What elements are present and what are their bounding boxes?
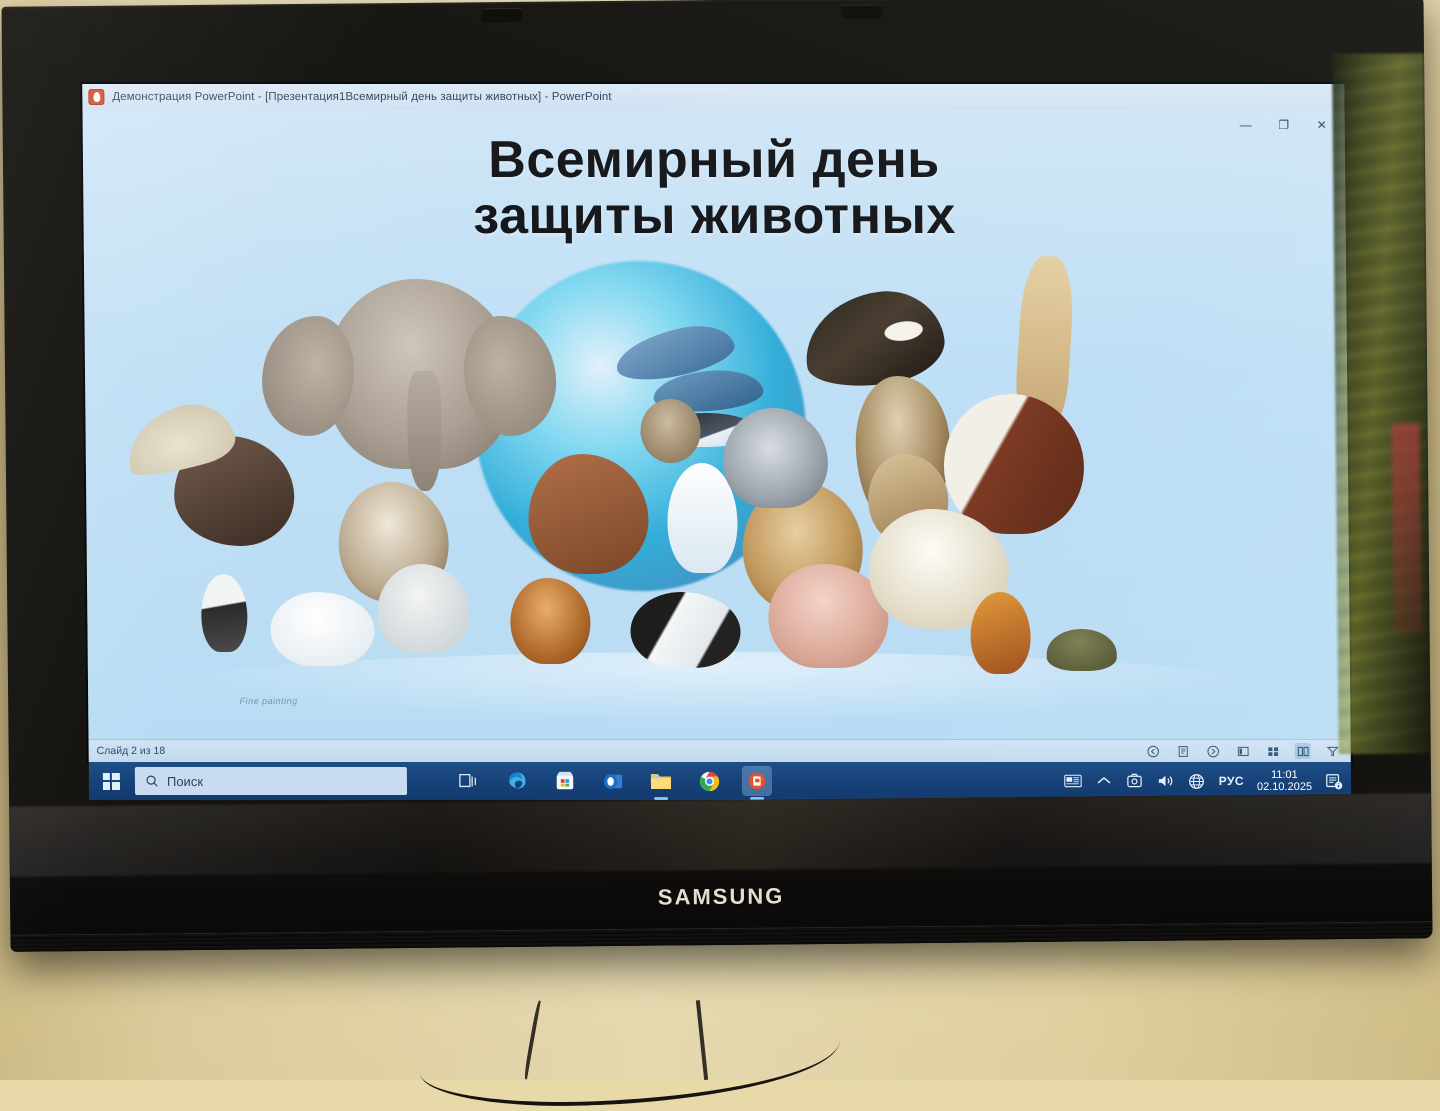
search-icon (145, 774, 159, 788)
mount-clip-left (482, 8, 522, 22)
animal-bear (641, 399, 702, 463)
power-led (709, 818, 715, 822)
animal-illustration: Fine painting (84, 270, 1350, 730)
powerpoint-icon (88, 89, 104, 105)
slide-title-line2: защиты животных (203, 188, 1226, 244)
slide-canvas[interactable]: Всемирный день защиты животных (82, 110, 1350, 740)
display-lower-bezel: SAMSUNG (9, 793, 1432, 952)
animal-elephant-trunk (407, 371, 442, 491)
powerpoint-statusbar: Слайд 2 из 18 (89, 739, 1351, 762)
clock-date: 02.10.2025 (1257, 781, 1312, 793)
outlook-icon[interactable] (599, 767, 627, 795)
power-cable (418, 1003, 841, 1111)
animal-turtle (1047, 629, 1117, 671)
window-reflection-red (1392, 423, 1422, 633)
microsoft-edge-icon[interactable] (503, 767, 531, 795)
system-tray: РУС 11:01 02.10.2025 (1064, 769, 1351, 794)
previous-slide-button[interactable] (1145, 743, 1161, 759)
slide-counter: Слайд 2 из 18 (89, 745, 166, 757)
windows-logo-icon (102, 772, 119, 789)
animal-eagle (798, 284, 950, 395)
network-icon[interactable] (1188, 772, 1206, 790)
windows-taskbar: Поиск (89, 762, 1351, 800)
volume-icon[interactable] (1157, 772, 1175, 790)
news-widget-icon[interactable] (1064, 772, 1082, 790)
minimize-button[interactable]: — (1227, 114, 1265, 136)
bezel-reflection (9, 793, 1432, 877)
television-display: Демонстрация PowerPoint - [Презентация1В… (1, 0, 1432, 952)
screen-content: Демонстрация PowerPoint - [Презентация1В… (82, 84, 1351, 762)
slide-sorter-view-button[interactable] (1265, 743, 1281, 759)
start-button[interactable] (89, 762, 133, 800)
slideshow-view-button[interactable] (1325, 743, 1341, 759)
notification-icon[interactable] (1325, 772, 1343, 790)
animal-lamb (270, 592, 375, 666)
clock-time: 11:01 (1271, 769, 1298, 781)
brand-logo: SAMSUNG (10, 877, 1432, 917)
animal-border-collie (630, 592, 741, 668)
animal-rabbit (201, 574, 248, 652)
show-hidden-icons-chevron[interactable] (1095, 772, 1113, 790)
microsoft-store-icon[interactable] (551, 767, 579, 795)
camera-icon[interactable] (1126, 772, 1144, 790)
search-placeholder: Поиск (167, 773, 203, 788)
language-indicator[interactable]: РУС (1219, 774, 1244, 788)
google-chrome-icon[interactable] (695, 767, 723, 795)
animal-horse (528, 454, 649, 574)
powerpoint-taskbar-icon[interactable] (743, 767, 771, 795)
reading-view-button[interactable] (1295, 743, 1311, 759)
mount-clip-right (842, 4, 882, 18)
notes-button[interactable] (1175, 743, 1191, 759)
view-controls (1145, 743, 1351, 759)
window-titlebar: Демонстрация PowerPoint - [Презентация1В… (82, 84, 1350, 111)
animal-rhinoceros (723, 408, 829, 508)
slide-title: Всемирный день защиты животных (83, 132, 1346, 244)
animal-dog-sheepdog (377, 564, 470, 654)
artist-signature: Fine painting (240, 696, 298, 706)
window-title: Демонстрация PowerPoint - [Презентация1В… (112, 91, 611, 103)
animal-bull (943, 394, 1084, 534)
animal-rooster (971, 592, 1032, 674)
slide-title-line1: Всемирный день (203, 132, 1226, 188)
file-explorer-icon[interactable] (647, 767, 675, 795)
task-view-icon[interactable] (455, 767, 483, 795)
window-controls: — ❐ ✕ (1227, 114, 1341, 136)
normal-view-button[interactable] (1235, 743, 1251, 759)
search-input[interactable]: Поиск (135, 767, 407, 795)
maximize-button[interactable]: ❐ (1265, 114, 1303, 136)
close-button[interactable]: ✕ (1303, 114, 1341, 136)
next-slide-button[interactable] (1205, 743, 1221, 759)
clock[interactable]: 11:01 02.10.2025 (1257, 769, 1312, 794)
animal-cat (510, 578, 591, 664)
taskbar-apps (455, 767, 771, 795)
